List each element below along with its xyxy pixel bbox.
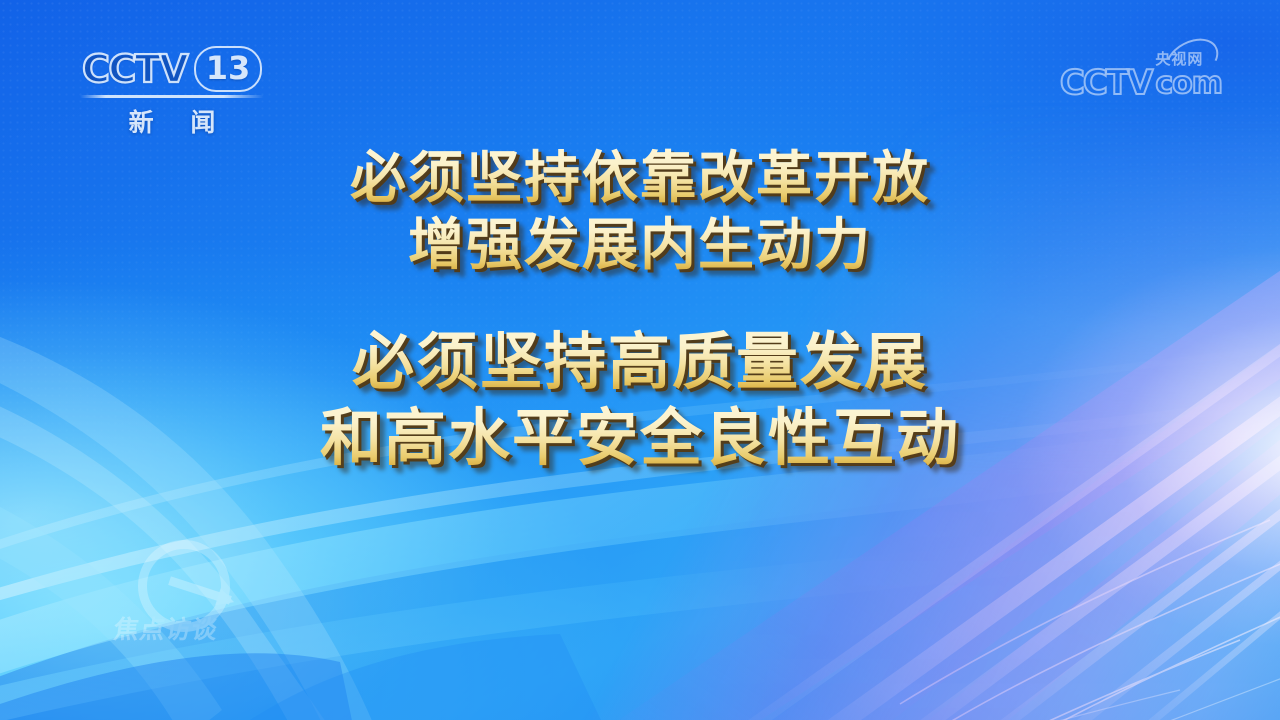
headline-line: 增强发展内生动力: [0, 212, 1280, 279]
headline-area: 必须坚持依靠改革开放 增强发展内生动力 必须坚持高质量发展 和高水平安全良性互动: [0, 0, 1280, 720]
headline-line: 必须坚持依靠改革开放: [0, 145, 1280, 212]
broadcast-frame: CCTV 13 新 闻 CCTV 央视网 com 焦点访谈 必须坚持依靠改革开放…: [0, 0, 1280, 720]
headline-block-primary: 必须坚持依靠改革开放 增强发展内生动力: [0, 145, 1280, 279]
headline-block-secondary: 必须坚持高质量发展 和高水平安全良性互动: [0, 325, 1280, 476]
headline-line: 和高水平安全良性互动: [0, 401, 1280, 475]
headline-line: 必须坚持高质量发展: [0, 325, 1280, 399]
